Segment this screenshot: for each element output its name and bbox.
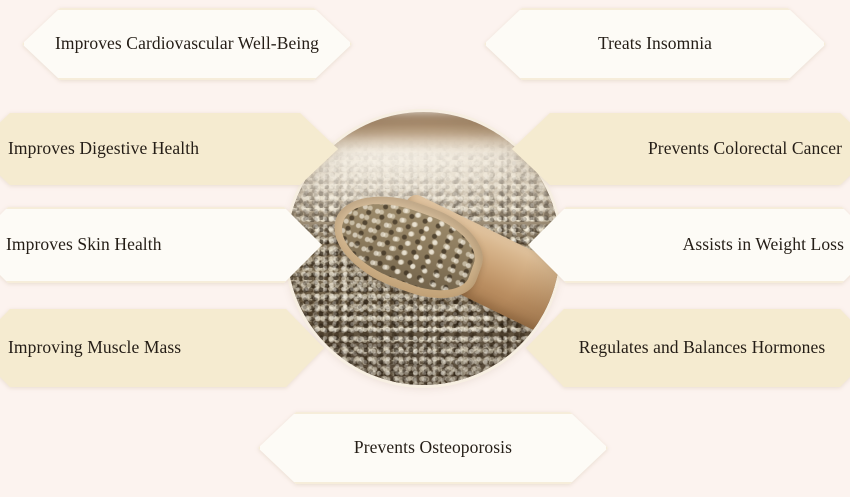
benefit-label-cardiovascular: Improves Cardiovascular Well-Being (22, 33, 352, 54)
benefit-label-skin: Improves Skin Health (0, 234, 322, 255)
benefit-label-muscle: Improving Muscle Mass (0, 337, 324, 358)
benefit-card-hormones[interactable]: Regulates and Balances Hormones (526, 309, 850, 387)
card-text-wrap: Regulates and Balances Hormones (526, 337, 850, 358)
benefit-card-insomnia[interactable]: Treats Insomnia (484, 8, 826, 80)
card-text-wrap: Prevents Osteoporosis (258, 437, 608, 458)
benefit-card-muscle[interactable]: Improving Muscle Mass (0, 309, 324, 387)
benefit-label-osteoporosis: Prevents Osteoporosis (258, 437, 608, 458)
benefit-card-osteoporosis[interactable]: Prevents Osteoporosis (258, 412, 608, 484)
benefit-card-weightloss[interactable]: Assists in Weight Loss (528, 207, 850, 283)
card-text-wrap: Assists in Weight Loss (528, 234, 850, 255)
benefit-label-hormones: Regulates and Balances Hormones (526, 337, 850, 358)
card-text-wrap: Treats Insomnia (484, 33, 826, 54)
card-text-wrap: Improving Muscle Mass (0, 337, 324, 358)
card-text-wrap: Improves Digestive Health (0, 138, 338, 159)
benefit-card-digestive[interactable]: Improves Digestive Health (0, 113, 338, 185)
benefit-card-cardiovascular[interactable]: Improves Cardiovascular Well-Being (22, 8, 352, 80)
card-text-wrap: Improves Cardiovascular Well-Being (22, 33, 352, 54)
benefit-label-insomnia: Treats Insomnia (484, 33, 826, 54)
benefit-card-skin[interactable]: Improves Skin Health (0, 207, 322, 283)
benefit-label-colorectal: Prevents Colorectal Cancer (512, 138, 850, 159)
benefit-card-colorectal[interactable]: Prevents Colorectal Cancer (512, 113, 850, 185)
card-text-wrap: Improves Skin Health (0, 234, 322, 255)
benefit-label-weightloss: Assists in Weight Loss (528, 234, 850, 255)
benefit-label-digestive: Improves Digestive Health (0, 138, 338, 159)
card-text-wrap: Prevents Colorectal Cancer (512, 138, 850, 159)
infographic-canvas: Improves Cardiovascular Well-Being Treat… (0, 0, 850, 497)
